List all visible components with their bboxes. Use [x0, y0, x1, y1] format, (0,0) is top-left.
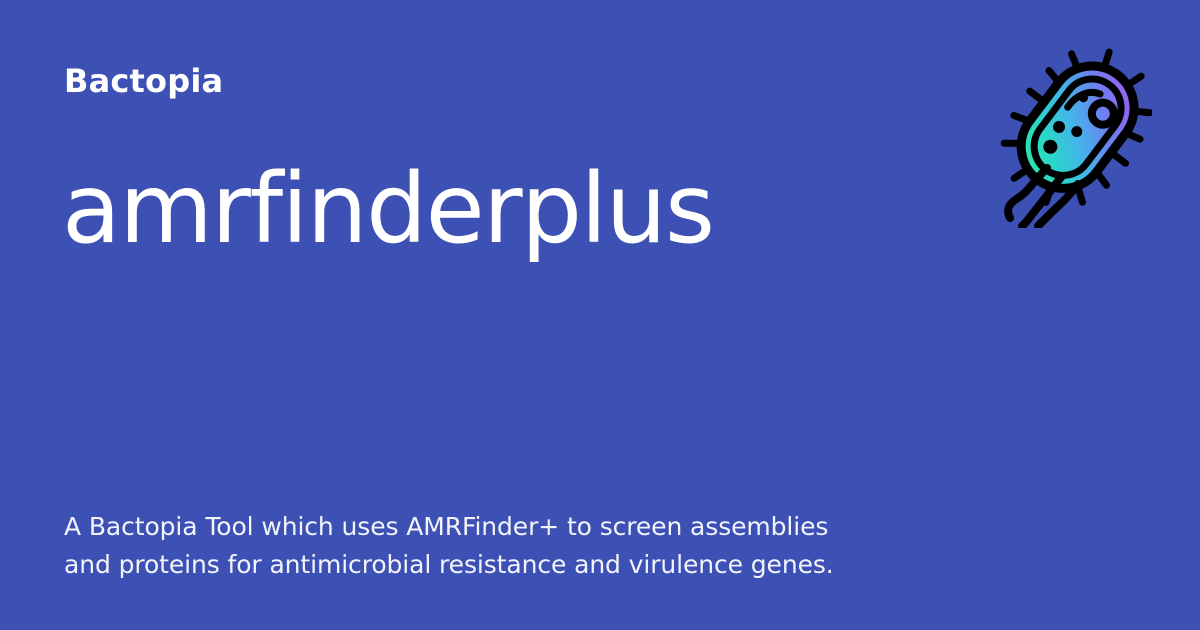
- page-title: amrfinderplus: [62, 158, 714, 262]
- social-card: Bactopia amrfinderplus A Bactopia Tool w…: [0, 0, 1200, 630]
- bacteria-icon: [992, 42, 1152, 228]
- bacteria-logo: [992, 42, 1152, 228]
- brand-title: Bactopia: [64, 62, 223, 100]
- page-description: A Bactopia Tool which uses AMRFinder+ to…: [64, 508, 864, 584]
